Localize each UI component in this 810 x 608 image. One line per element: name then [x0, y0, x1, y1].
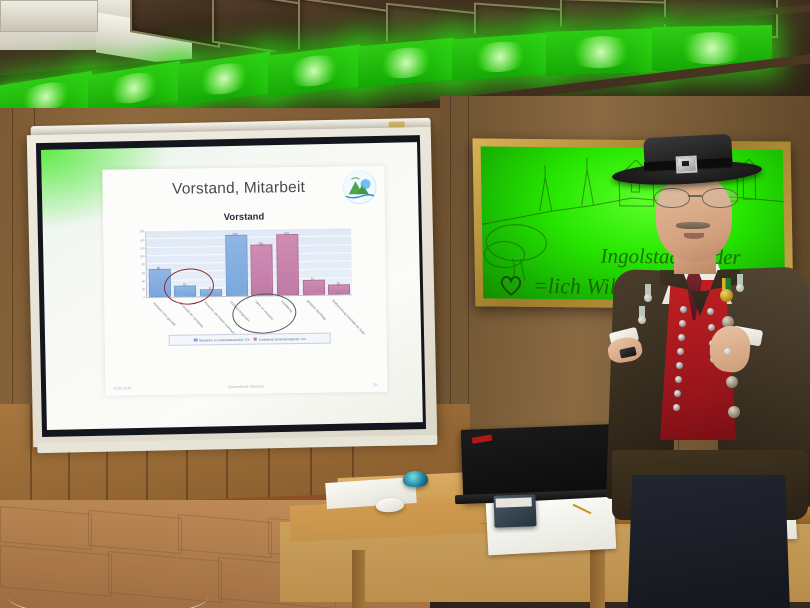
chart-bar-label: 31	[300, 278, 326, 281]
slide-title: Vorstand, Mitarbeit	[148, 179, 328, 200]
presentation-room-photo: Ingolstadt in der =lich Willkommen im Vo…	[0, 0, 810, 608]
eyeglasses	[654, 188, 740, 206]
silver-badge	[644, 284, 652, 302]
chart-heading: Vorstand	[103, 210, 385, 225]
chart-y-tick: 100	[140, 256, 144, 259]
small-device-box	[493, 494, 536, 527]
club-emblem-logo	[342, 170, 376, 204]
green-light-panel	[452, 33, 548, 82]
heart-icon	[499, 275, 523, 297]
chart-y-tick: 60	[142, 273, 145, 276]
screen-black-frame: Vorstand, Mitarbeit Vorstand	[36, 135, 426, 437]
green-light-panel	[358, 38, 454, 88]
chart-y-axis: 020406080100120140160	[127, 231, 146, 299]
chart-category-label: geplante Nachfolge	[306, 299, 327, 321]
chart-y-tick: 0	[144, 298, 145, 301]
trousers	[622, 475, 792, 608]
projector-lens	[403, 471, 428, 487]
chart-y-tick: 160	[140, 232, 144, 235]
chart-bar	[328, 284, 350, 294]
presenter	[604, 120, 810, 550]
screen-border: Vorstand, Mitarbeit Vorstand	[27, 127, 437, 447]
chart-bar-label: 119	[248, 242, 274, 245]
mustache	[676, 222, 710, 229]
chart-legend-label: Mitarbeiter im Vorstandsausschuß: 179	[199, 337, 249, 342]
chart-legend-item: Ausbildung Vorstandsmitglieder: 119	[253, 336, 305, 341]
slide-footer-page: 25	[373, 383, 377, 387]
chart-legend-item: Mitarbeiter im Vorstandsausschuß: 179	[194, 337, 250, 342]
chart-bar	[276, 234, 299, 296]
chart-bar-label: 19	[325, 282, 351, 285]
chart-bar-label: 62	[146, 267, 172, 270]
jacket-button	[728, 406, 740, 418]
table-leg	[590, 544, 605, 608]
chart-bar-label: 144	[222, 232, 248, 235]
chart-bar	[302, 280, 324, 295]
chart-category-label: Stellvertretung innerhalb der Wahl	[332, 299, 367, 336]
silver-badge	[638, 306, 646, 324]
chart-category-label: Vorstand / neu gewählt	[152, 301, 176, 327]
jacket-button	[726, 376, 738, 388]
hat-silver-buckle	[676, 155, 698, 173]
table-leg	[352, 550, 365, 608]
chart-y-tick: 20	[142, 289, 145, 292]
chart-bar	[225, 234, 248, 296]
chart-legend-label: Ausbildung Vorstandsmitglieder: 119	[259, 336, 306, 341]
ring	[724, 348, 731, 355]
chart-y-tick: 80	[142, 265, 145, 268]
chart-y-tick: 140	[140, 240, 144, 243]
green-light-panel	[546, 28, 656, 76]
device-box-label	[496, 497, 532, 507]
chart-y-tick: 120	[140, 248, 144, 251]
medal	[720, 278, 733, 304]
chart-legend-swatch	[194, 338, 198, 342]
presentation-slide: Vorstand, Mitarbeit Vorstand	[102, 166, 387, 396]
mouth	[684, 233, 704, 239]
chart-category-label: die Anzahl der Vorstände	[178, 301, 204, 329]
silver-badge	[736, 274, 744, 292]
ac-duct-box	[0, 0, 98, 32]
chart-legend: Mitarbeiter im Vorstandsausschuß: 179Aus…	[169, 333, 331, 346]
laptop-brand-badge	[472, 434, 493, 443]
chart-legend-swatch	[253, 337, 257, 341]
projection-screen-assembly: Vorstand, Mitarbeit Vorstand	[27, 118, 442, 456]
projection-surface: Vorstand, Mitarbeit Vorstand	[41, 142, 423, 430]
chart-y-tick: 40	[142, 281, 145, 284]
chart-bar-label: 144	[273, 232, 299, 235]
slide-footer-center: Gauverband Oberpfalz	[105, 383, 387, 391]
ellipse-annotation-pink-labels	[231, 291, 298, 335]
chart-bar	[251, 244, 274, 295]
